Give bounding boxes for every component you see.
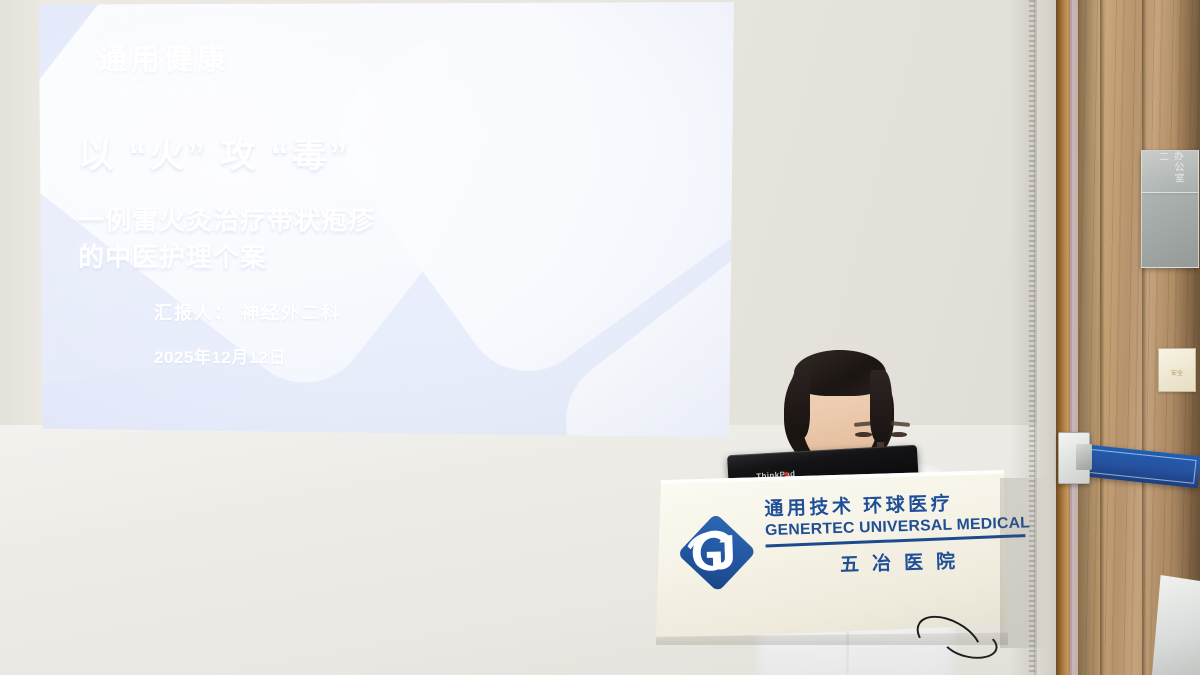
eye-left	[855, 432, 872, 437]
eye-right	[890, 432, 907, 437]
room-scene: 通用健康 仁爱为本 央企品质 以 “火” 攻 “毒” 一例雷火灸治疗带状疱疹 的…	[0, 0, 1200, 675]
genertec-gu-logo-icon	[679, 515, 755, 591]
podium-text-block: 通用技术 环球医疗 GENERTEC UNIVERSAL MEDICAL 五冶医…	[764, 488, 1026, 579]
hair-side-left	[790, 370, 810, 438]
gu-logo-letters	[679, 515, 755, 591]
door-shadow-left	[1078, 0, 1104, 675]
door-shadow-right	[1174, 0, 1200, 675]
door[interactable]	[1056, 0, 1200, 675]
podium-hospital-name: 五冶医院	[766, 545, 1027, 580]
podium: 通用技术 环球医疗 GENERTEC UNIVERSAL MEDICAL 五冶医…	[656, 470, 1008, 645]
wall-left-strip	[0, 0, 40, 460]
wall-sign-plate-label: 办公室二	[1154, 150, 1185, 192]
door-hardware-latch[interactable]	[1076, 444, 1092, 470]
wall-sign-plate-header: 办公室二	[1142, 151, 1198, 193]
wall-sign-plate: 办公室二	[1141, 150, 1199, 268]
hair-side-right	[870, 370, 892, 442]
wall-sign-plate-body	[1142, 195, 1198, 267]
door-groove-2	[1142, 0, 1147, 675]
podium-sign: 通用技术 环球医疗 GENERTEC UNIVERSAL MEDICAL 五冶医…	[678, 489, 1000, 628]
wall-sticker: 安全	[1158, 348, 1196, 392]
podium-cast-shadow	[1000, 478, 1048, 648]
projected-slide: 通用健康 仁爱为本 央企品质 以 “火” 攻 “毒” 一例雷火灸治疗带状疱疹 的…	[36, 2, 734, 440]
